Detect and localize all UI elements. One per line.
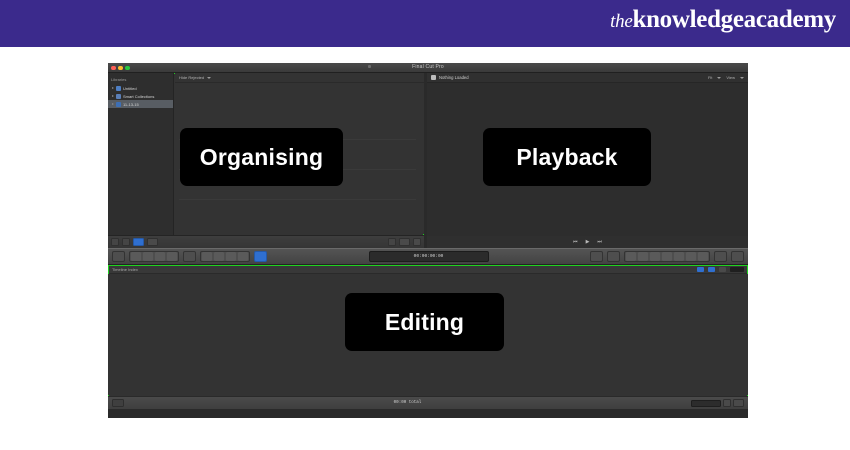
brand-logo: theknowledgeacademy <box>610 6 836 34</box>
smart-collection-icon <box>116 94 121 99</box>
music-icon[interactable] <box>686 252 696 261</box>
brand-logo-the: the <box>610 11 632 32</box>
timeline-total-duration: 00:00 total <box>124 401 691 405</box>
generators-icon[interactable] <box>650 252 660 261</box>
photos-icon[interactable] <box>626 252 636 261</box>
themes-icon[interactable] <box>662 252 672 261</box>
brand-header: theknowledgeacademy <box>0 0 850 47</box>
color-icon[interactable] <box>238 252 248 261</box>
adjust-icon[interactable] <box>214 252 224 261</box>
append-icon[interactable] <box>155 252 165 261</box>
browser-toolbar <box>108 235 424 248</box>
viewer-fit-label[interactable]: Fit <box>708 75 712 80</box>
libraries-sidebar: Libraries Untitled Smart Collections 11-… <box>108 73 174 248</box>
final-cut-pro-window: Final Cut Pro Libraries Untitled Smart C… <box>108 63 748 418</box>
skip-to-start-icon[interactable]: ⏮ <box>573 240 578 245</box>
text-icon[interactable] <box>674 252 684 261</box>
hide-sidebar-icon[interactable] <box>714 251 727 262</box>
sidebar-item-label: 11-13-15 <box>123 102 139 107</box>
filmstrip-view-icon[interactable] <box>133 238 144 246</box>
browser-toolbar-left <box>111 238 158 246</box>
browser-toolbar-right <box>388 238 421 246</box>
browser-filter-bar[interactable]: Hide Rejected <box>175 73 424 83</box>
window-titlebar: Final Cut Pro <box>108 63 748 73</box>
viewer-status-label: Nothing Loaded <box>439 75 469 80</box>
sidebar-item-label: Untitled <box>123 86 137 91</box>
audio-meter-icon[interactable] <box>730 267 744 272</box>
select-tool-icon[interactable] <box>183 251 196 262</box>
timeline-index-label[interactable]: Timeline Index <box>112 267 138 272</box>
connect-icon[interactable] <box>131 252 141 261</box>
overwrite-icon[interactable] <box>167 252 177 261</box>
retime-group <box>200 251 250 262</box>
timeline-index-icon[interactable] <box>112 399 124 407</box>
retime-icon[interactable] <box>202 252 212 261</box>
brand-logo-name: knowledgeacademy <box>632 6 836 33</box>
skip-to-end-icon[interactable]: ⏭ <box>597 240 602 245</box>
viewer-transport-controls: ⏮ ▶ ⏭ <box>427 236 748 248</box>
clip-appearance-icon[interactable] <box>697 267 704 272</box>
inspector-icon[interactable] <box>731 251 744 262</box>
viewer-header-right: Fit View <box>708 75 744 80</box>
timeline-zoom-controls <box>691 399 744 407</box>
zoom-slider[interactable] <box>691 400 721 407</box>
skimming-icon[interactable] <box>719 267 726 272</box>
viewer-header: Nothing Loaded Fit View <box>427 73 748 83</box>
hide-rejected-label: Hide Rejected <box>179 75 204 80</box>
disclosure-triangle-icon[interactable] <box>112 87 114 89</box>
sidebar-item-event[interactable]: 11-13-15 <box>108 100 173 108</box>
label-chip-editing: Editing <box>345 293 504 351</box>
disclosure-triangle-icon[interactable] <box>112 95 114 97</box>
share-icon[interactable] <box>413 238 421 246</box>
keyword-icon[interactable] <box>122 238 130 246</box>
chevron-down-icon[interactable] <box>207 77 211 79</box>
arrow-tool-icon[interactable] <box>254 251 267 262</box>
zoom-icon[interactable] <box>708 267 715 272</box>
window-title: Final Cut Pro <box>108 63 748 72</box>
list-view-icon[interactable] <box>147 238 158 246</box>
insert-icon[interactable] <box>143 252 153 261</box>
effects-icon[interactable] <box>698 252 708 261</box>
library-icon <box>116 86 121 91</box>
transitions-browser-icon[interactable] <box>607 251 620 262</box>
titles-icon[interactable] <box>638 252 648 261</box>
disclosure-triangle-icon[interactable] <box>112 103 114 105</box>
play-icon[interactable]: ▶ <box>586 240 590 245</box>
sidebar-item-label: Smart Collections <box>123 94 154 99</box>
label-chip-playback: Playback <box>483 128 651 186</box>
viewer-view-label[interactable]: View <box>726 75 735 80</box>
sidebar-header: Libraries <box>108 76 173 84</box>
label-chip-organising: Organising <box>180 128 343 186</box>
chevron-down-icon[interactable] <box>740 77 744 79</box>
import-media-icon[interactable] <box>112 251 125 262</box>
sidebar-item-smart-collections[interactable]: Smart Collections <box>108 92 173 100</box>
timecode-display[interactable]: 00:00:00:00 <box>369 251 489 262</box>
clip-appearance-icon[interactable] <box>388 238 396 246</box>
clip-height-icon[interactable] <box>723 399 731 407</box>
event-icon <box>116 102 121 107</box>
main-toolbar: 00:00:00:00 <box>108 248 748 265</box>
sidebar-item-untitled[interactable]: Untitled <box>108 84 173 92</box>
viewer-source-icon <box>431 75 436 80</box>
chevron-down-icon[interactable] <box>717 77 721 79</box>
timeline-header-right <box>697 267 744 272</box>
effects-browser-icon[interactable] <box>590 251 603 262</box>
timeline-status-bar: 00:00 total <box>108 396 748 409</box>
edit-tools-group <box>129 251 179 262</box>
inspector-group <box>624 251 710 262</box>
search-icon[interactable] <box>399 238 410 246</box>
timeline-appearance-icon[interactable] <box>733 399 744 407</box>
timeline-header: Timeline Index <box>108 265 748 274</box>
enhance-icon[interactable] <box>226 252 236 261</box>
import-media-icon[interactable] <box>111 238 119 246</box>
divider <box>179 199 416 200</box>
